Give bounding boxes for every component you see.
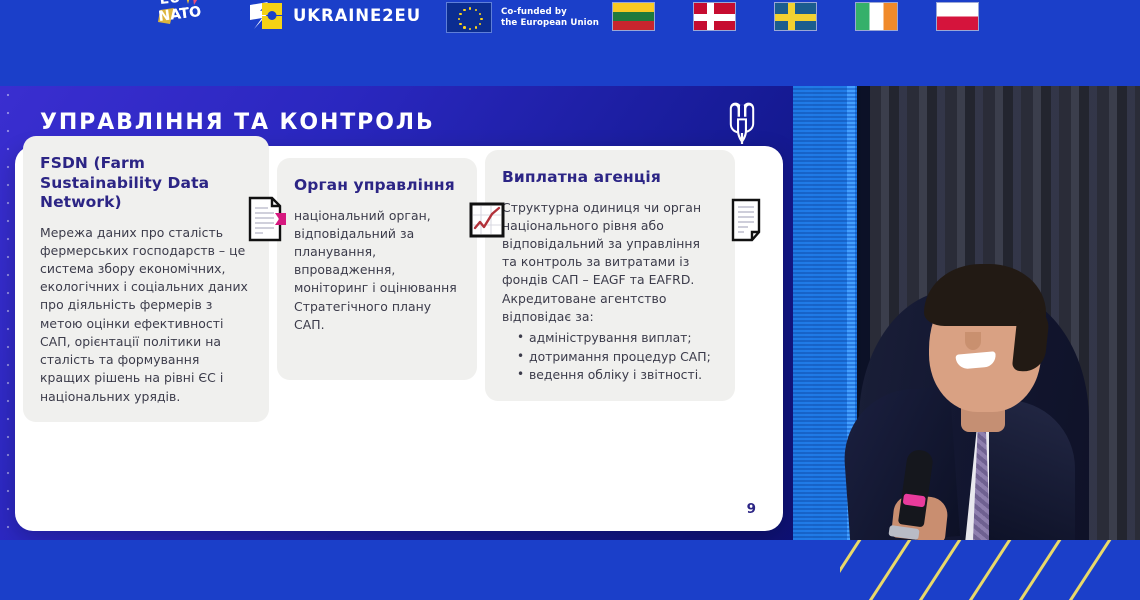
flag-denmark-icon (693, 2, 736, 31)
flag-ireland-icon (855, 2, 898, 31)
partner-flags (612, 2, 979, 31)
cofunded-line-1: Co-funded by (501, 7, 567, 17)
ukraine2eu-logo: UKRAINE2EU (250, 1, 421, 31)
card-fsdn-title: FSDN (Farm Sustainability Data Network) (40, 154, 252, 213)
document-scroll-icon (730, 198, 768, 242)
eu-flag-icon (446, 2, 492, 33)
card-paying-agency: Виплатна агенція Структурна одиниця чи о… (485, 150, 735, 401)
ukraine2eu-mark-icon (250, 2, 284, 30)
page-number: 9 (747, 501, 756, 517)
card-paying-agency-body: Структурна одиниця чи орган національног… (502, 199, 718, 327)
bottom-brand-band (0, 540, 1140, 600)
cofunded-eu-badge: Co-funded by the European Union (446, 2, 599, 33)
card-managing-authority-title: Орган управління (294, 176, 460, 196)
card-paying-agency-bullets: адміністрування виплат; дотримання проце… (502, 329, 718, 385)
top-logo-bar: EU NATO NATO UKRAINE2EU (0, 0, 1140, 86)
info-cards-row: FSDN (Farm Sustainability Data Network) … (23, 136, 749, 422)
slide-title: УПРАВЛІННЯ ТА КОНТРОЛЬ (40, 110, 435, 135)
card-managing-authority-body: національний орган, відповідальний за пл… (294, 207, 460, 335)
speaker-nose (965, 332, 981, 350)
presentation-stage: EU NATO NATO UKRAINE2EU (0, 0, 1140, 600)
eu-nato-logo: EU NATO NATO (158, 0, 224, 30)
card-fsdn-body: Мережа даних про сталість фермерських го… (40, 224, 252, 406)
slide-panel: УПРАВЛІННЯ ТА КОНТРОЛЬ 9 (0, 86, 793, 548)
cofunded-line-2: the European Union (501, 18, 599, 28)
dotted-rail-decoration (4, 86, 12, 548)
card-fsdn: FSDN (Farm Sustainability Data Network) … (23, 136, 269, 422)
ukraine2eu-label: UKRAINE2EU (293, 8, 421, 25)
list-item: ведення обліку і звітності. (517, 366, 718, 385)
card-managing-authority: Орган управління національний орган, від… (277, 158, 477, 380)
cofunded-text: Co-funded by the European Union (501, 7, 599, 29)
list-item: дотримання процедур САП; (517, 348, 718, 367)
document-bookmark-icon (248, 196, 288, 242)
flag-sweden-icon (774, 2, 817, 31)
card-paying-agency-title: Виплатна агенція (502, 168, 718, 188)
list-item: адміністрування виплат; (517, 329, 718, 348)
flag-lithuania-icon (612, 2, 655, 31)
line-chart-icon (469, 202, 505, 238)
speaker-video-panel (793, 86, 1140, 540)
flag-poland-icon (936, 2, 979, 31)
diagonal-stripes-decoration (840, 540, 1140, 600)
